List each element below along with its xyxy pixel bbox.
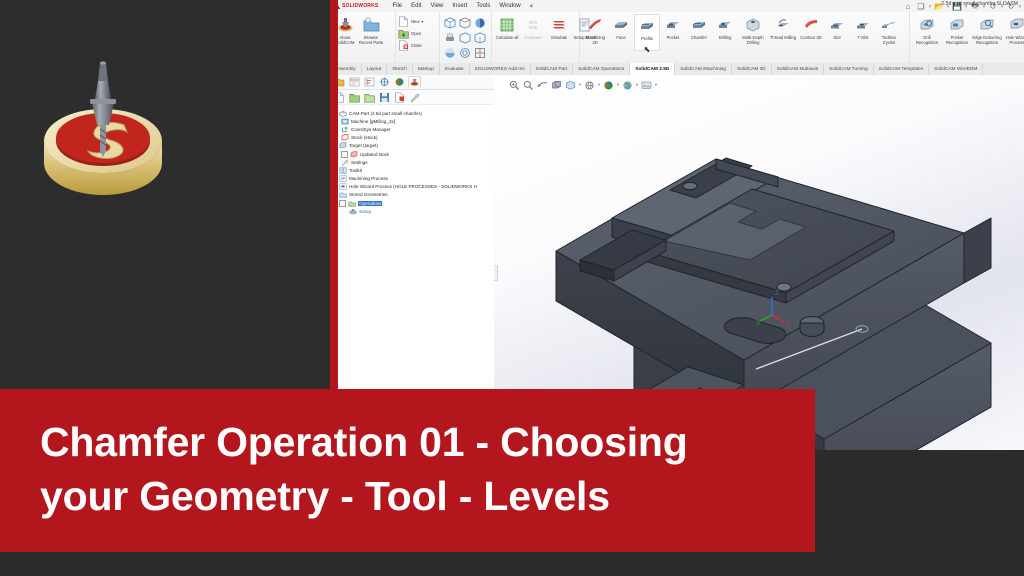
pin-menu-icon[interactable]: ✶: [529, 3, 534, 10]
ribbon-button-close[interactable]: Close: [398, 40, 424, 51]
tree-node-operations[interactable]: − Operations: [338, 199, 492, 207]
menu-window[interactable]: Window: [499, 3, 520, 9]
tree-node-stock[interactable]: Stock (stock): [338, 134, 492, 142]
dimxpert-manager-tab[interactable]: [378, 76, 391, 88]
new-dropdown-icon[interactable]: ▾: [928, 4, 932, 10]
ribbon-button-pocket-recognition[interactable]: Pocket Recognition: [942, 14, 972, 45]
solidworks-mark-icon: [338, 3, 340, 9]
ribbon-label-slot: Slot: [824, 35, 850, 40]
ribbon-group-recognition: Drill Recognition Pocket Recognition Edg…: [910, 12, 1024, 63]
tree-node-hole-wizard-process[interactable]: − Hole Wizard Process (HOLE PROCESSES - …: [338, 183, 492, 191]
solidcam-logo: [28, 55, 178, 195]
tab-solidcam-3d[interactable]: SolidCAM 3D: [732, 63, 772, 75]
sim-view-isometric-icon[interactable]: [442, 15, 457, 30]
ribbon-button-generate: G01G00 Generate: [520, 14, 546, 40]
solidworks-logo: SOLIDWORKS: [338, 3, 378, 9]
slot-icon: [829, 16, 845, 34]
tree-label: Target (target): [349, 143, 378, 148]
sim-view-wireframe-icon[interactable]: [472, 30, 487, 45]
new-dropdown-caret-icon[interactable]: ▾: [421, 19, 423, 24]
svg-text:G00: G00: [529, 25, 538, 30]
ribbon-button-drilling[interactable]: Drilling: [712, 14, 738, 40]
tree-label: CAM-Part (2.5d part small-chamfer): [349, 111, 422, 116]
ribbon-group-file: New ▾ Open: [396, 12, 440, 63]
title-banner: Chamfer Operation 01 - Choosing your Geo…: [0, 389, 815, 552]
ribbon-button-multi-depth-drilling[interactable]: Multi-Depth Drilling: [738, 14, 768, 45]
ribbon-button-hole-wizard-process[interactable]: Hole Wizard Process: [1002, 14, 1024, 45]
stock-icon: [341, 134, 349, 141]
tree-label: Machine [gMilling_3x]: [351, 119, 395, 124]
property-manager-tab[interactable]: [348, 76, 361, 88]
tree-label: Stored Geometries: [349, 192, 388, 197]
drill-recognition-icon: [919, 16, 935, 34]
new-document-icon[interactable]: ❑: [915, 1, 927, 12]
new-cam-part-icon[interactable]: [338, 91, 346, 103]
tree-node-machining-process[interactable]: − Machining Process: [338, 175, 492, 183]
ribbon-group-calculate: Calculate all G01G00 Generate: [492, 12, 580, 63]
sim-view-sphere-icon[interactable]: [442, 45, 457, 60]
configuration-manager-tab[interactable]: [363, 76, 376, 88]
ribbon-group-operations: iMachining 2D Face Profile ⬉: [580, 12, 910, 63]
open-cam-part-icon: [398, 28, 409, 39]
toolkit-icon: [339, 167, 347, 174]
sim-view-section-icon[interactable]: [472, 45, 487, 60]
tab-solidworks-add-ins[interactable]: SOLIDWORKS Add-Ins: [470, 63, 531, 75]
ribbon-label-imachining-2d: iMachining 2D: [582, 35, 608, 45]
tab-solidcam-turning[interactable]: SolidCAM Turning: [824, 63, 874, 75]
ribbon-label-drill-recognition: Drill Recognition: [912, 35, 942, 45]
redo-dropdown-icon[interactable]: ▾: [1018, 4, 1022, 10]
ribbon-label-generate: Generate: [520, 35, 546, 40]
sim-view-spiral-icon[interactable]: [457, 45, 472, 60]
display-manager-tab[interactable]: [393, 76, 406, 88]
cam-part-icon: [339, 110, 347, 117]
tree-node-machine[interactable]: Machine [gMilling_3x]: [338, 117, 492, 125]
banner-line-2: your Geometry - Tool - Levels: [40, 469, 781, 523]
ribbon-button-imachining-2d[interactable]: iMachining 2D: [582, 14, 608, 45]
hole-wizard-icon: [339, 183, 347, 190]
ribbon-button-contour-3d[interactable]: Contour 3D: [798, 14, 824, 40]
settings-wrench-icon[interactable]: [408, 91, 421, 103]
t-slot-icon: [855, 16, 871, 34]
ribbon-button-new[interactable]: New ▾: [398, 16, 424, 27]
setup-icon: [349, 208, 357, 215]
ribbon-group-sim-views: [440, 12, 492, 63]
menu-edit[interactable]: Edit: [411, 3, 421, 9]
tab-solidcam-25d[interactable]: SolidCAM 2.5D: [630, 63, 675, 75]
tab-layout[interactable]: Layout: [362, 63, 387, 75]
tree-node-stored-geometries[interactable]: + Stored Geometries: [338, 191, 492, 199]
tree-node-setup[interactable]: Setup: [338, 207, 492, 215]
ribbon-label-face: Face: [608, 35, 634, 40]
thread-milling-icon: [775, 16, 791, 34]
ribbon-label-hole-wizard-process: Hole Wizard Process: [1002, 35, 1024, 45]
tab-markup[interactable]: Markup: [413, 63, 440, 75]
ribbon-button-drill-recognition[interactable]: Drill Recognition: [912, 14, 942, 45]
save-cam-part-icon[interactable]: [378, 91, 391, 103]
menu-insert[interactable]: Insert: [452, 3, 467, 9]
tree-label: Operations: [358, 201, 382, 206]
multi-depth-drilling-icon: [745, 16, 761, 34]
svg-text:Y: Y: [756, 320, 761, 327]
ribbon-label-calculate-all: Calculate all: [494, 35, 520, 40]
ribbon-button-slot[interactable]: Slot: [824, 14, 850, 40]
ribbon-button-profile[interactable]: Profile ⬉: [634, 14, 660, 51]
tab-solidcam-multiaxis[interactable]: SolidCAM Multiaxis: [772, 63, 824, 75]
chamfer-icon: [691, 16, 707, 34]
tab-assembly[interactable]: Assembly: [338, 63, 362, 75]
mouse-cursor-icon: ⬉: [644, 45, 651, 54]
open-existing-icon[interactable]: [363, 91, 376, 103]
solidcam-about-icon: [338, 16, 354, 34]
tab-solidcam-operations[interactable]: SolidCAM Operations: [573, 63, 630, 75]
ribbon-label-multi-depth-drilling: Multi-Depth Drilling: [738, 35, 768, 45]
close-cam-part-icon: [398, 40, 409, 51]
sim-view-grid[interactable]: [442, 14, 487, 60]
tree-node-target[interactable]: + Target (target): [338, 142, 492, 150]
simulate-icon: [551, 16, 567, 34]
tree-label: Hole Wizard Process (HOLE PROCESSES - SO…: [349, 184, 477, 189]
menu-file[interactable]: File: [392, 3, 402, 9]
toolbox-cycles-icon: [881, 16, 897, 34]
ribbon-button-pocket[interactable]: Pocket: [660, 14, 686, 40]
tree-label: Machining Process: [349, 176, 388, 181]
ribbon-label-new: New: [411, 19, 419, 24]
ribbon: About SolidCAM Browse Recent Parts: [338, 12, 1024, 64]
close-cam-part-icon[interactable]: [393, 91, 406, 103]
open-cam-part-icon[interactable]: [348, 91, 361, 103]
ribbon-button-about-solidcam[interactable]: About SolidCAM: [338, 14, 358, 45]
tab-solidcam-wireedm[interactable]: SolidCAM WireEDM: [929, 63, 983, 75]
tree-label: CoordSys Manager: [351, 127, 391, 132]
ribbon-label-pocket: Pocket: [660, 35, 686, 40]
ribbon-label-toolbox-cycles: Toolbox Cycles: [876, 35, 902, 45]
ribbon-label-contour-3d: Contour 3D: [798, 35, 824, 40]
svg-text:X: X: [786, 322, 791, 329]
ribbon-label-open: Open: [411, 31, 421, 36]
tree-node-updated-stock[interactable]: Updated stock: [338, 150, 492, 158]
edge-deburring-recognition-icon: [979, 16, 995, 34]
operations-icon: [348, 200, 356, 207]
new-cam-part-icon: [398, 16, 409, 27]
ribbon-label-close: Close: [411, 43, 422, 48]
menu-tools[interactable]: Tools: [476, 3, 490, 9]
updated-stock-icon: [350, 151, 358, 158]
tree-node-toolkit[interactable]: − Toolkit: [338, 166, 492, 174]
banner-line-1: Chamfer Operation 01 - Choosing: [40, 415, 781, 469]
solidcam-feature-tree[interactable]: − CAM-Part (2.5d part small-chamfer) Mac…: [338, 105, 494, 215]
ribbon-label-pocket-recognition: Pocket Recognition: [942, 35, 972, 45]
sim-view-front-icon[interactable]: [457, 15, 472, 30]
machining-process-icon: [339, 175, 347, 182]
ribbon-group-general: About SolidCAM Browse Recent Parts: [338, 12, 396, 63]
solidcam-manager-toolbar[interactable]: [338, 90, 494, 105]
tab-sketch[interactable]: Sketch: [387, 63, 413, 75]
ribbon-label-about-solidcam: About SolidCAM: [338, 35, 358, 45]
ribbon-button-open[interactable]: Open: [398, 28, 424, 39]
face-milling-icon: [613, 16, 629, 34]
hole-wizard-process-icon: [1009, 16, 1024, 34]
menu-view[interactable]: View: [430, 3, 443, 9]
red-accent-strip: [330, 0, 338, 389]
ribbon-button-toolbox-cycles[interactable]: Toolbox Cycles: [876, 14, 902, 45]
sim-view-shaded-ball-icon[interactable]: [472, 15, 487, 30]
tree-node-coordsys-manager[interactable]: CoordSys Manager: [338, 125, 492, 133]
solidworks-wordmark: SOLIDWORKS: [342, 3, 378, 9]
home-icon[interactable]: ⌂: [902, 1, 914, 12]
ribbon-button-edge-deburring-recognition[interactable]: Edge Deburring Recognition: [972, 14, 1002, 45]
sim-view-print-icon[interactable]: [442, 30, 457, 45]
profile-icon: [639, 17, 655, 35]
ribbon-button-simulate[interactable]: Simulate: [546, 14, 572, 40]
ribbon-label-chamfer: Chamfer: [686, 35, 712, 40]
tab-solidcam-imachining[interactable]: SolidCAM iMachining: [675, 63, 732, 75]
sim-view-box-icon[interactable]: [457, 30, 472, 45]
pocket-recognition-icon: [949, 16, 965, 34]
solidworks-window: SOLIDWORKS File Edit View Insert Tools W…: [338, 0, 1024, 450]
updated-stock-checkbox[interactable]: [341, 151, 348, 158]
slide-canvas: SOLIDWORKS File Edit View Insert Tools W…: [0, 0, 1024, 576]
tab-solidcam-part[interactable]: SolidCAM Part: [531, 63, 573, 75]
calculate-all-icon: [499, 16, 515, 34]
ribbon-label-simulate: Simulate: [546, 35, 572, 40]
document-title: 2.5d part small chamfer.SLDASM: [941, 1, 1018, 7]
tab-solidcam-templates[interactable]: SolidCAM Templates: [874, 63, 929, 75]
feature-manager-tab-strip[interactable]: [338, 75, 494, 90]
tree-label: Toolkit: [349, 168, 362, 173]
coordsys-icon: [341, 126, 349, 133]
imachining-2d-icon: [587, 16, 603, 34]
stored-geometries-icon: [339, 191, 347, 198]
ribbon-label-drilling: Drilling: [712, 35, 738, 40]
tree-node-settings[interactable]: Settings: [338, 158, 492, 166]
left-dark-panel: [0, 0, 330, 389]
tab-evaluate[interactable]: Evaluate: [440, 63, 470, 75]
tree-label: Stock (stock): [351, 135, 378, 140]
operations-checkbox[interactable]: [339, 200, 346, 207]
ribbon-button-t-slot[interactable]: T-Slot: [850, 14, 876, 40]
ribbon-button-thread-milling[interactable]: Thread Milling: [768, 14, 798, 40]
ribbon-label-thread-milling: Thread Milling: [768, 35, 798, 40]
settings-icon: [341, 159, 349, 166]
ribbon-button-chamfer[interactable]: Chamfer: [686, 14, 712, 40]
pocket-icon: [665, 16, 681, 34]
tree-node-cam-part[interactable]: − CAM-Part (2.5d part small-chamfer): [338, 109, 492, 117]
ribbon-label-t-slot: T-Slot: [850, 35, 876, 40]
target-icon: [339, 142, 347, 149]
ribbon-button-face[interactable]: Face: [608, 14, 634, 40]
machine-icon: [341, 118, 349, 125]
generate-icon: G01G00: [525, 16, 541, 34]
browse-recent-parts-icon: [363, 16, 380, 34]
drilling-icon: [717, 16, 733, 34]
feature-manager-tree-tab[interactable]: [338, 76, 346, 88]
tree-label: Updated stock: [360, 152, 389, 157]
tree-label: Setup: [359, 209, 371, 214]
ribbon-button-browse-recent-parts[interactable]: Browse Recent Parts: [358, 14, 384, 45]
ribbon-label-edge-deburring-recognition: Edge Deburring Recognition: [972, 35, 1002, 45]
menu-items[interactable]: File Edit View Insert Tools Window: [392, 3, 520, 9]
ribbon-label-browse-recent-parts: Browse Recent Parts: [358, 35, 384, 45]
svg-text:Z: Z: [775, 290, 780, 297]
tree-label: Settings: [351, 160, 368, 165]
contour-3d-icon: [803, 16, 819, 34]
ribbon-button-calculate-all[interactable]: Calculate all: [494, 14, 520, 40]
solidcam-manager-tab[interactable]: [408, 76, 421, 88]
ribbon-label-profile: Profile: [635, 36, 659, 41]
